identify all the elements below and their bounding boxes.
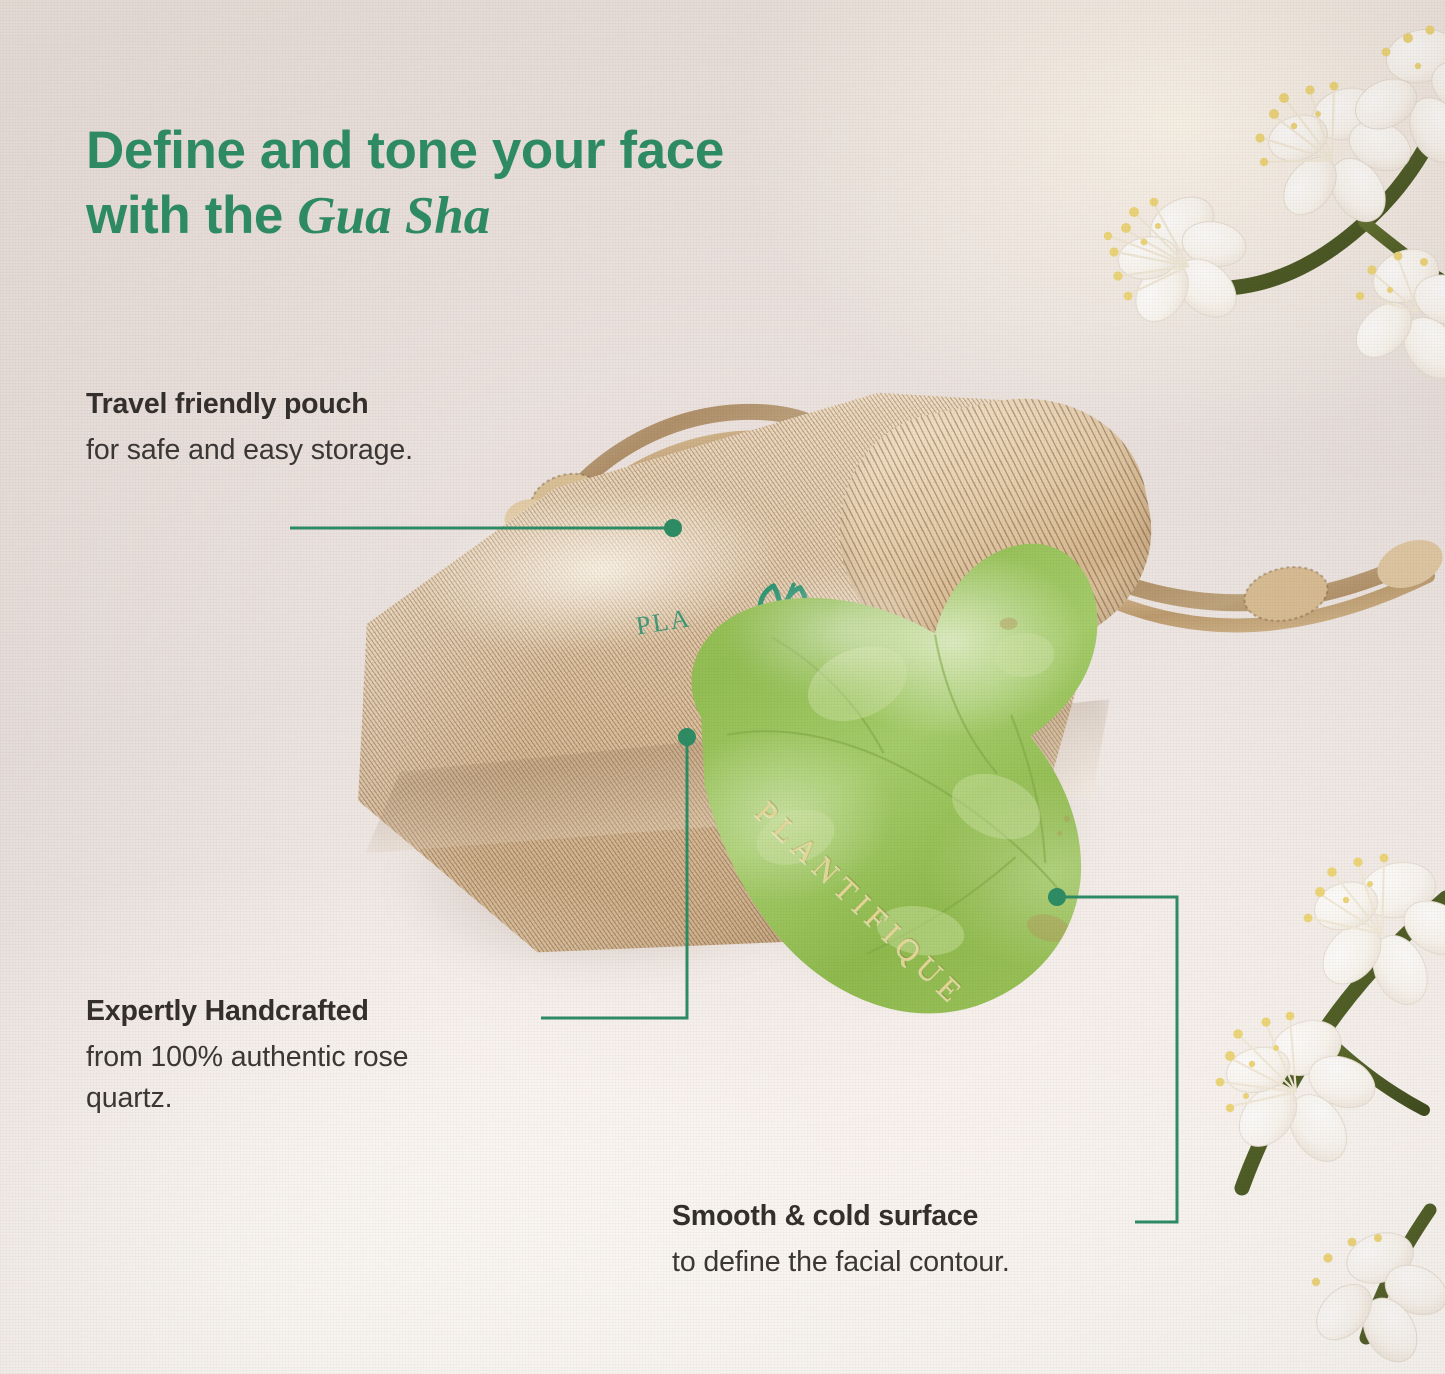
callout-body-smooth: to define the facial contour. bbox=[672, 1242, 1010, 1283]
callout-travel-pouch: Travel friendly pouch for safe and easy … bbox=[86, 388, 413, 471]
product-infographic: PLA bbox=[0, 0, 1445, 1374]
headline-line-2-italic: Gua Sha bbox=[297, 187, 490, 245]
callout-smooth-surface: Smooth & cold surface to define the faci… bbox=[672, 1200, 1010, 1283]
callout-handcrafted: Expertly Handcrafted from 100% authentic… bbox=[86, 995, 466, 1119]
gua-sha-stone: PLANTIFIQUE bbox=[599, 498, 1185, 1039]
callout-body-craft: from 100% authentic rose quartz. bbox=[86, 1037, 466, 1119]
page-headline: Define and tone your face with the Gua S… bbox=[86, 118, 946, 250]
headline-line-1: Define and tone your face bbox=[86, 121, 724, 180]
callout-body-pouch: for safe and easy storage. bbox=[86, 430, 413, 471]
callout-title-craft: Expertly Handcrafted bbox=[86, 995, 466, 1029]
headline-line-2-prefix: with the bbox=[86, 186, 297, 245]
blossom-bottom-corner bbox=[1280, 1180, 1445, 1374]
blossom-cluster-top-right bbox=[1096, 10, 1445, 430]
callout-title-pouch: Travel friendly pouch bbox=[86, 388, 413, 422]
callout-title-smooth: Smooth & cold surface bbox=[672, 1200, 1010, 1234]
